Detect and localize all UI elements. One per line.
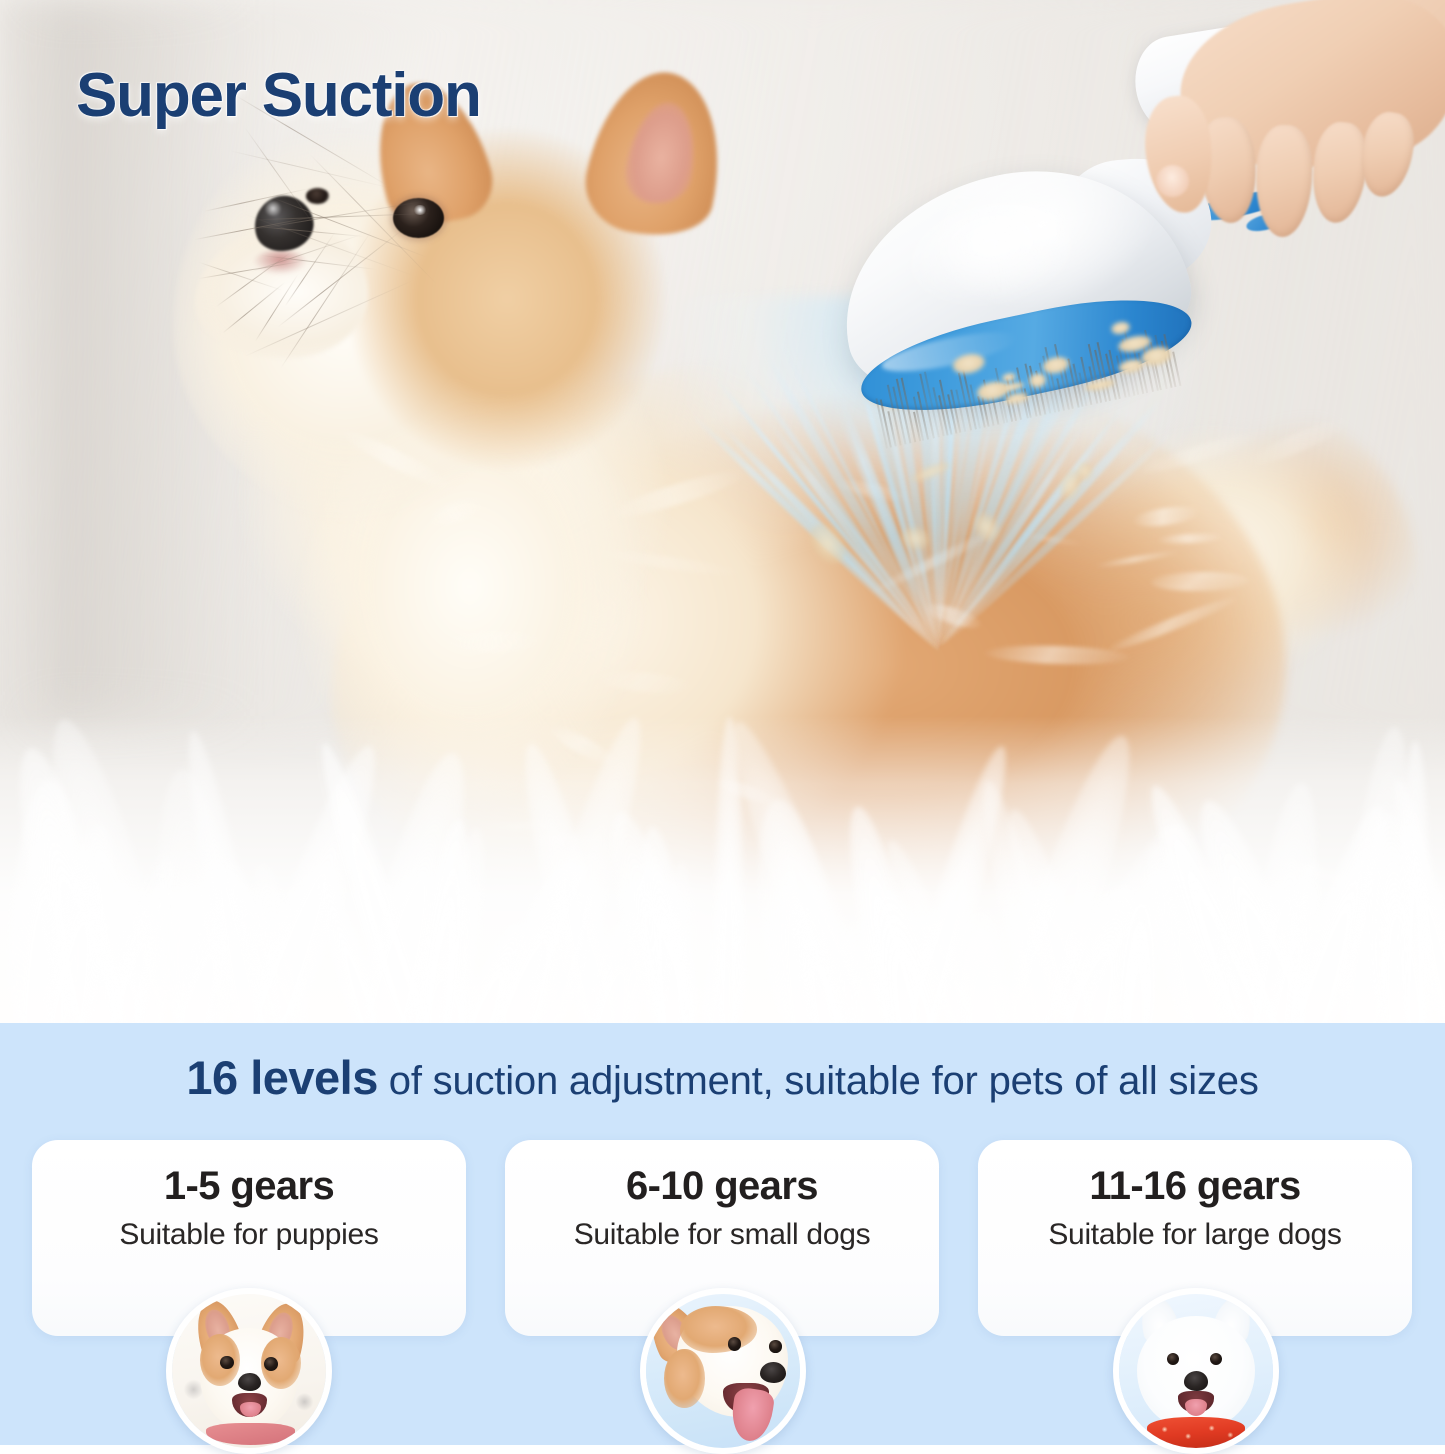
spitz-eye-right	[1210, 1353, 1222, 1365]
corgi-eye-left	[220, 1356, 234, 1370]
finger-middle	[1254, 124, 1314, 238]
headline-rest: of suction adjustment, suitable for pets…	[378, 1059, 1259, 1103]
corgi2-eye-right	[769, 1340, 781, 1352]
headline-emphasis: 16 levels	[186, 1051, 378, 1104]
suction-levels-panel: 16 levels of suction adjustment, suitabl…	[0, 1023, 1445, 1445]
product-feature-poster: Super Suction 16 levels of suction adjus…	[0, 0, 1445, 1445]
card-subtitle: Suitable for small dogs	[505, 1218, 939, 1252]
corgi2-nose	[760, 1362, 786, 1384]
human-hand	[1120, 0, 1445, 266]
corgi2-cheek-patch	[664, 1349, 704, 1408]
hero-photo: Super Suction	[0, 0, 1445, 1023]
rug-tufts	[0, 757, 1445, 1023]
card-title: 6-10 gears	[505, 1164, 939, 1209]
card-title: 11-16 gears	[978, 1164, 1412, 1209]
corgi-dog-photo	[640, 1288, 806, 1454]
spitz-eye-left	[1167, 1353, 1179, 1365]
page-title: Super Suction	[76, 60, 481, 131]
card-subtitle: Suitable for large dogs	[978, 1218, 1412, 1252]
card-title: 1-5 gears	[32, 1164, 466, 1209]
corgi-puppy-photo	[166, 1288, 332, 1454]
corgi-nose	[238, 1373, 261, 1391]
white-spitz-dog-photo	[1113, 1288, 1279, 1454]
card-subtitle: Suitable for puppies	[32, 1218, 466, 1252]
gear-cards: 1-5 gears Suitable for puppies	[0, 1140, 1445, 1445]
spitz-nose	[1184, 1371, 1209, 1391]
panel-headline: 16 levels of suction adjustment, suitabl…	[0, 1050, 1445, 1105]
